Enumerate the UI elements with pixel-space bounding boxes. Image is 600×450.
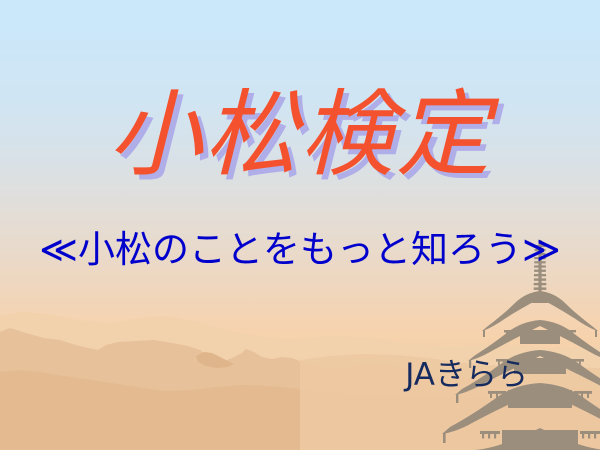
slide-text-layer: 小松検定 ≪小松のことをもっと知ろう≫ JAきらら: [0, 0, 600, 450]
title-slide: 小松検定 ≪小松のことをもっと知ろう≫ JAきらら: [0, 0, 600, 450]
slide-subtitle: ≪小松のことをもっと知ろう≫: [0, 229, 600, 272]
organization-credit: JAきらら: [0, 358, 600, 394]
page-title: 小松検定: [0, 84, 600, 187]
